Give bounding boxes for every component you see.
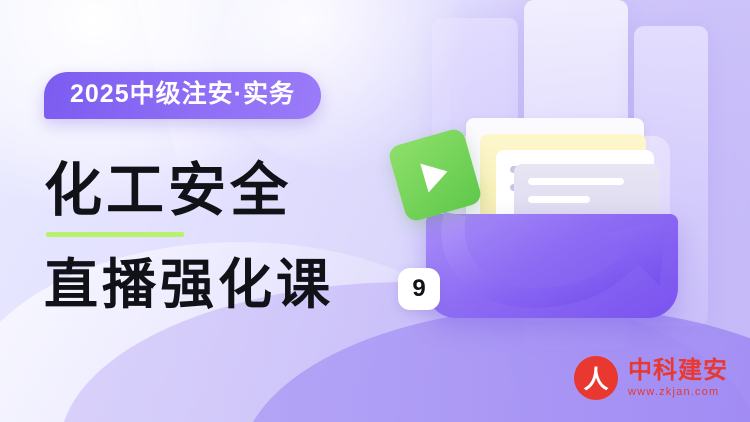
episode-number-badge: 9 — [398, 268, 440, 310]
logo-text: 中科建安 www.zkjan.com — [628, 358, 728, 399]
logo-brand-name: 中科建安 — [628, 358, 728, 383]
folder-illustration — [396, 110, 706, 340]
page-title-line-1: 化工安全 — [44, 162, 292, 220]
promo-banner: 2025中级注安·实务 化工安全 直播强化课 9 人 中科建安 www.zkja… — [0, 0, 750, 422]
brand-logo: 人 中科建安 www.zkjan.com — [574, 356, 728, 400]
page-title-line-2: 直播强化课 — [44, 258, 334, 312]
logo-website-url: www.zkjan.com — [628, 387, 728, 399]
course-tag: 2025中级注安·实务 — [44, 72, 321, 119]
title-underline-accent — [46, 232, 184, 237]
logo-mark-icon: 人 — [574, 356, 618, 400]
